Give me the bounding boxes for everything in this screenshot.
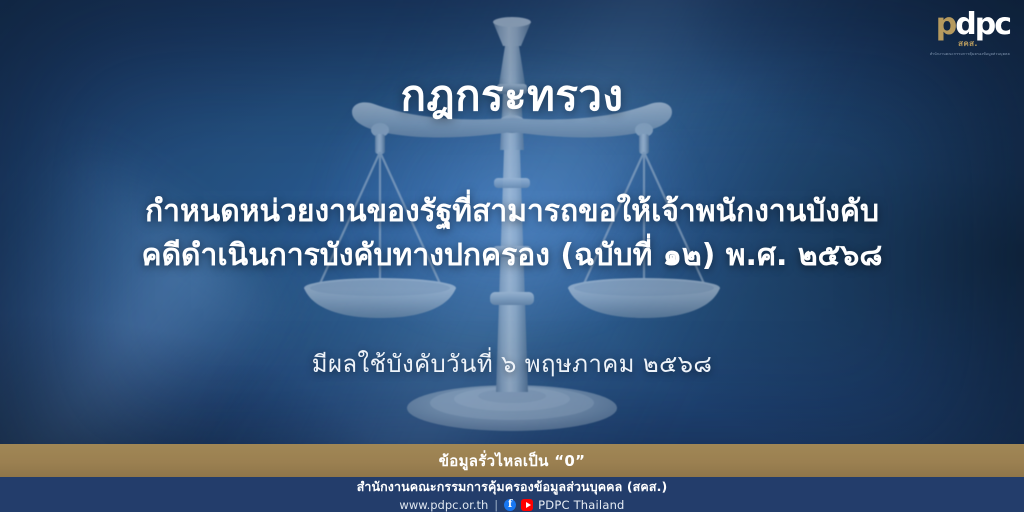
- footer-organization: สำนักงานคณะกรรมการคุ้มครองข้อมูลส่วนบุคค…: [357, 477, 668, 497]
- footer-social-handle: PDPC Thailand: [538, 498, 624, 512]
- slogan-band: ข้อมูลรั่วไหลเป็น “0”: [0, 444, 1024, 477]
- facebook-icon[interactable]: f: [504, 499, 516, 511]
- logo-tagline: สำนักงานคณะกรรมการคุ้มครองข้อมูลส่วนบุคค…: [930, 51, 1010, 57]
- logo-wordmark: pdpc: [926, 10, 1010, 40]
- effective-date-text: มีผลใช้บังคับวันที่ ๖ พฤษภาคม ๒๕๖๘: [0, 344, 1024, 383]
- logo-letter-p: p: [936, 7, 955, 42]
- pdpc-logo: pdpc สคส. สำนักงานคณะกรรมการคุ้มครองข้อม…: [926, 10, 1010, 58]
- page-subtitle: กำหนดหน่วยงานของรัฐที่สามารถขอให้เจ้าพนั…: [60, 190, 964, 277]
- footer-separator: |: [494, 498, 498, 512]
- youtube-icon[interactable]: [521, 499, 533, 511]
- page-title: กฎกระทรวง: [0, 70, 1024, 123]
- footer-bar: สำนักงานคณะกรรมการคุ้มครองข้อมูลส่วนบุคค…: [0, 477, 1024, 512]
- footer-contact-row: www.pdpc.or.th | f PDPC Thailand: [399, 498, 624, 512]
- subtitle-line-1: กำหนดหน่วยงานของรัฐที่สามารถขอให้เจ้าพนั…: [60, 190, 964, 234]
- poster-canvas: pdpc สคส. สำนักงานคณะกรรมการคุ้มครองข้อม…: [0, 0, 1024, 512]
- subtitle-line-2: คดีดำเนินการบังคับทางปกครอง (ฉบับที่ ๑๒)…: [60, 234, 964, 278]
- slogan-text: ข้อมูลรั่วไหลเป็น “0”: [439, 449, 586, 473]
- footer-website-link[interactable]: www.pdpc.or.th: [399, 498, 488, 512]
